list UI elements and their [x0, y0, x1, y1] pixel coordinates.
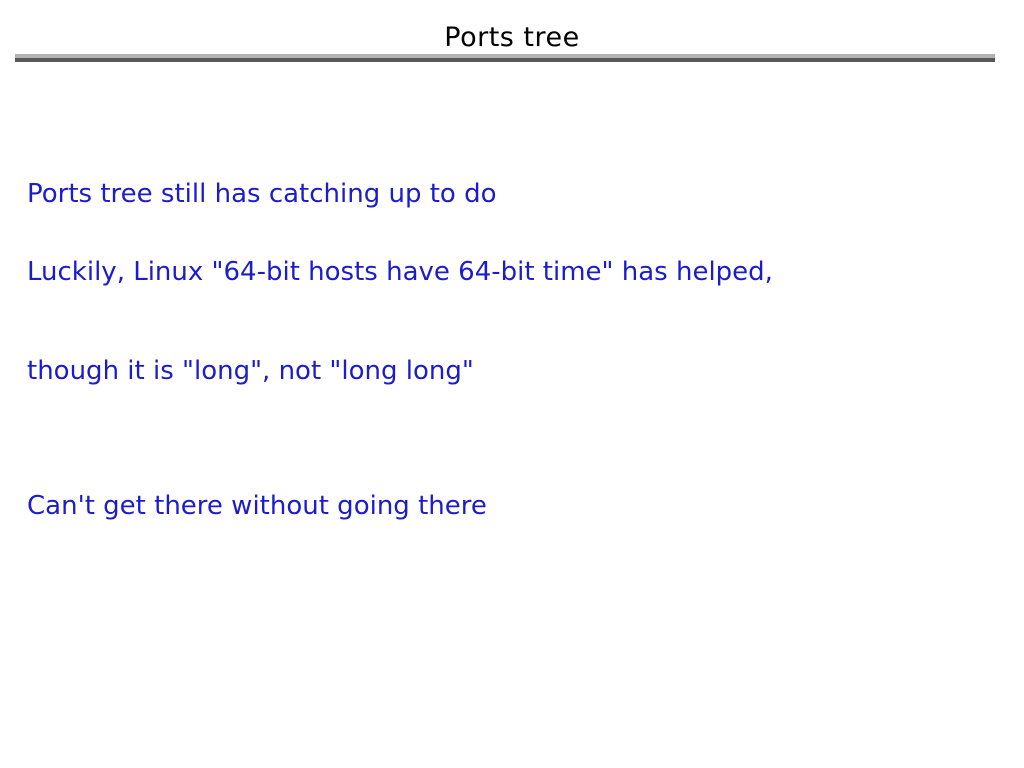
- body-line-3: though it is "long", not "long long": [27, 355, 773, 388]
- body-paragraph-3: Can't get there without going there: [27, 424, 487, 589]
- body-line-4: Can't get there without going there: [27, 490, 487, 523]
- body-paragraph-2: Luckily, Linux "64-bit hosts have 64-bit…: [27, 190, 773, 454]
- title-divider: [15, 54, 995, 62]
- body-line-2: Luckily, Linux "64-bit hosts have 64-bit…: [27, 256, 773, 289]
- page-title: Ports tree: [0, 22, 1024, 54]
- divider-shadow-band: [15, 58, 995, 62]
- slide-canvas: Ports tree Ports tree still has catching…: [0, 0, 1024, 768]
